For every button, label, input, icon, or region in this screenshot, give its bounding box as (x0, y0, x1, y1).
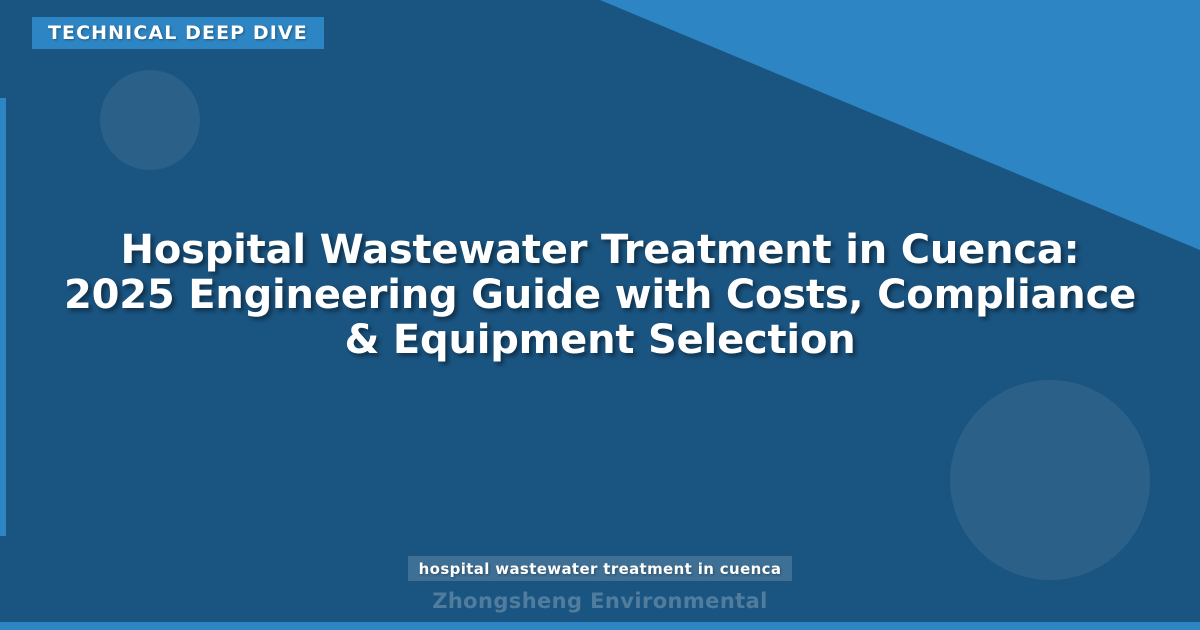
page-title: Hospital Wastewater Treatment in Cuenca:… (60, 228, 1140, 363)
keyword-tag: hospital wastewater treatment in cuenca (408, 556, 793, 581)
keyword-tag-label: hospital wastewater treatment in cuenca (419, 560, 782, 578)
circle-decoration-top-left (100, 70, 200, 170)
circle-decoration-bottom-right (950, 380, 1150, 580)
eyebrow-badge: TECHNICAL DEEP DIVE (32, 17, 324, 49)
social-share-banner: TECHNICAL DEEP DIVE Hospital Wastewater … (0, 0, 1200, 630)
brand-name: Zhongsheng Environmental (432, 589, 768, 613)
headline-container: Hospital Wastewater Treatment in Cuenca:… (60, 228, 1140, 363)
bottom-accent-bar (0, 622, 1200, 630)
eyebrow-badge-label: TECHNICAL DEEP DIVE (48, 22, 308, 44)
left-edge-accent-bar (0, 98, 6, 536)
footer-container: hospital wastewater treatment in cuenca … (0, 556, 1200, 613)
